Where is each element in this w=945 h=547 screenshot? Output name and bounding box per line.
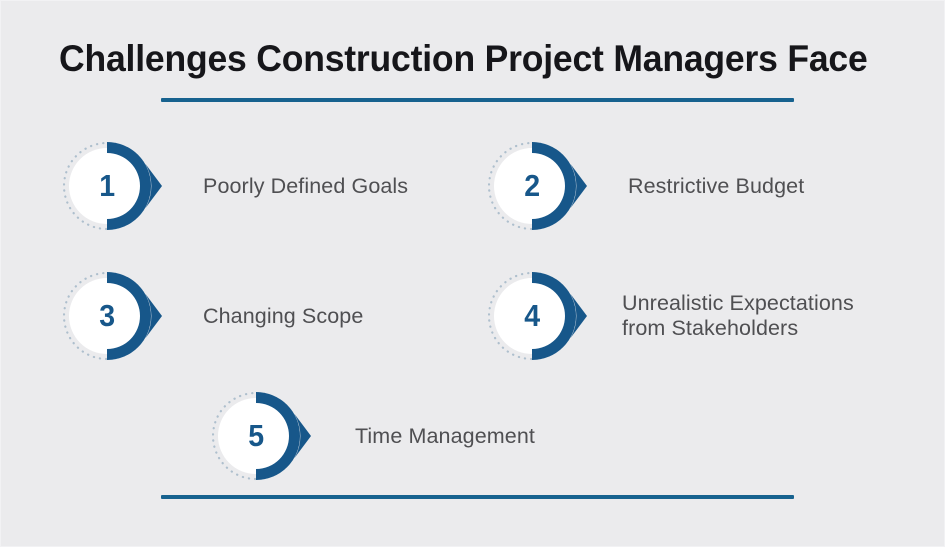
badge-number: 1: [67, 136, 148, 236]
list-item: 2 Restrictive Budget: [488, 136, 804, 236]
list-item-label: Poorly Defined Goals: [203, 174, 408, 199]
badge-icon: 1: [63, 136, 169, 236]
list-item-label: Unrealistic Expectations from Stakeholde…: [622, 291, 854, 341]
list-item: 1 Poorly Defined Goals: [63, 136, 408, 236]
badge-number: 4: [492, 266, 573, 366]
infographic-canvas: Challenges Construction Project Managers…: [0, 0, 945, 547]
badge-icon: 3: [63, 266, 169, 366]
divider-bottom: [161, 495, 794, 499]
page-title: Challenges Construction Project Managers…: [59, 37, 865, 81]
badge-number: 2: [492, 136, 573, 236]
list-item-label: Restrictive Budget: [628, 174, 804, 199]
divider-top: [161, 98, 794, 102]
badge-icon: 5: [212, 386, 318, 486]
badge-icon: 4: [488, 266, 594, 366]
list-item-label: Time Management: [355, 424, 535, 449]
badge-icon: 2: [488, 136, 594, 236]
badge-number: 5: [216, 386, 297, 486]
list-item-label: Changing Scope: [203, 304, 363, 329]
list-item: 4 Unrealistic Expectations from Stakehol…: [488, 266, 854, 366]
badge-number: 3: [67, 266, 148, 366]
list-item: 3 Changing Scope: [63, 266, 363, 366]
list-item: 5 Time Management: [212, 386, 535, 486]
